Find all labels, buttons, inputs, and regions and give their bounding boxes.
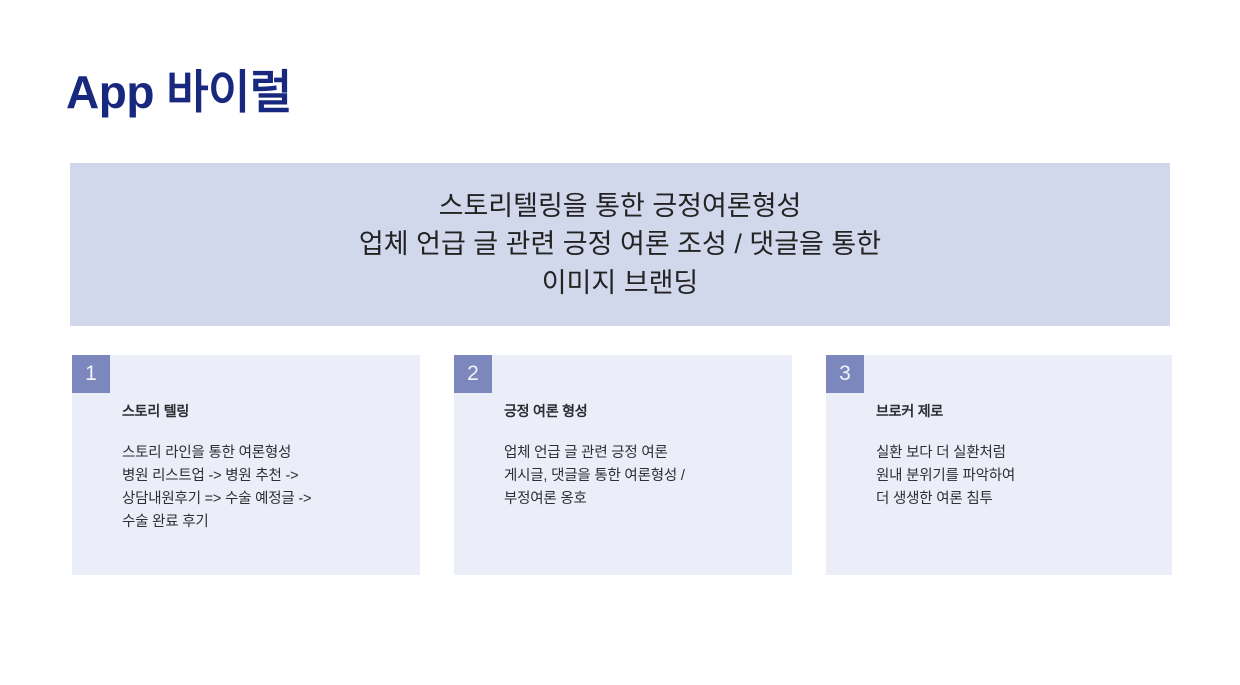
feature-card-list: 1 스토리 텔링 스토리 라인을 통한 여론형성 병원 리스트업 -> 병원 추… [72, 355, 1172, 575]
card-number-badge: 1 [72, 355, 110, 393]
headline-banner: 스토리텔링을 통한 긍정여론형성 업체 언급 글 관련 긍정 여론 조성 / 댓… [70, 163, 1170, 326]
card-number-badge: 2 [454, 355, 492, 393]
feature-card: 3 브로커 제로 실환 보다 더 실환처럼 원내 분위기를 파악하여 더 생생한… [826, 355, 1172, 575]
banner-line-3: 이미지 브랜딩 [542, 264, 699, 302]
card-content: 긍정 여론 형성 업체 언급 글 관련 긍정 여론 게시글, 댓글을 통한 여론… [504, 402, 778, 511]
feature-card: 2 긍정 여론 형성 업체 언급 글 관련 긍정 여론 게시글, 댓글을 통한 … [454, 355, 792, 575]
feature-card: 1 스토리 텔링 스토리 라인을 통한 여론형성 병원 리스트업 -> 병원 추… [72, 355, 420, 575]
card-title: 긍정 여론 형성 [504, 402, 778, 420]
banner-line-2: 업체 언급 글 관련 긍정 여론 조성 / 댓글을 통한 [359, 225, 881, 263]
card-title: 브로커 제로 [876, 402, 1158, 420]
card-number-badge: 3 [826, 355, 864, 393]
card-title: 스토리 텔링 [122, 402, 406, 420]
card-content: 브로커 제로 실환 보다 더 실환처럼 원내 분위기를 파악하여 더 생생한 여… [876, 402, 1158, 511]
card-content: 스토리 텔링 스토리 라인을 통한 여론형성 병원 리스트업 -> 병원 추천 … [122, 402, 406, 534]
card-description: 스토리 라인을 통한 여론형성 병원 리스트업 -> 병원 추천 -> 상담내원… [122, 442, 406, 534]
card-description: 업체 언급 글 관련 긍정 여론 게시글, 댓글을 통한 여론형성 / 부정여론… [504, 442, 778, 511]
card-description: 실환 보다 더 실환처럼 원내 분위기를 파악하여 더 생생한 여론 침투 [876, 442, 1158, 511]
page-title: App 바이럴 [66, 66, 292, 119]
banner-line-1: 스토리텔링을 통한 긍정여론형성 [439, 187, 802, 225]
